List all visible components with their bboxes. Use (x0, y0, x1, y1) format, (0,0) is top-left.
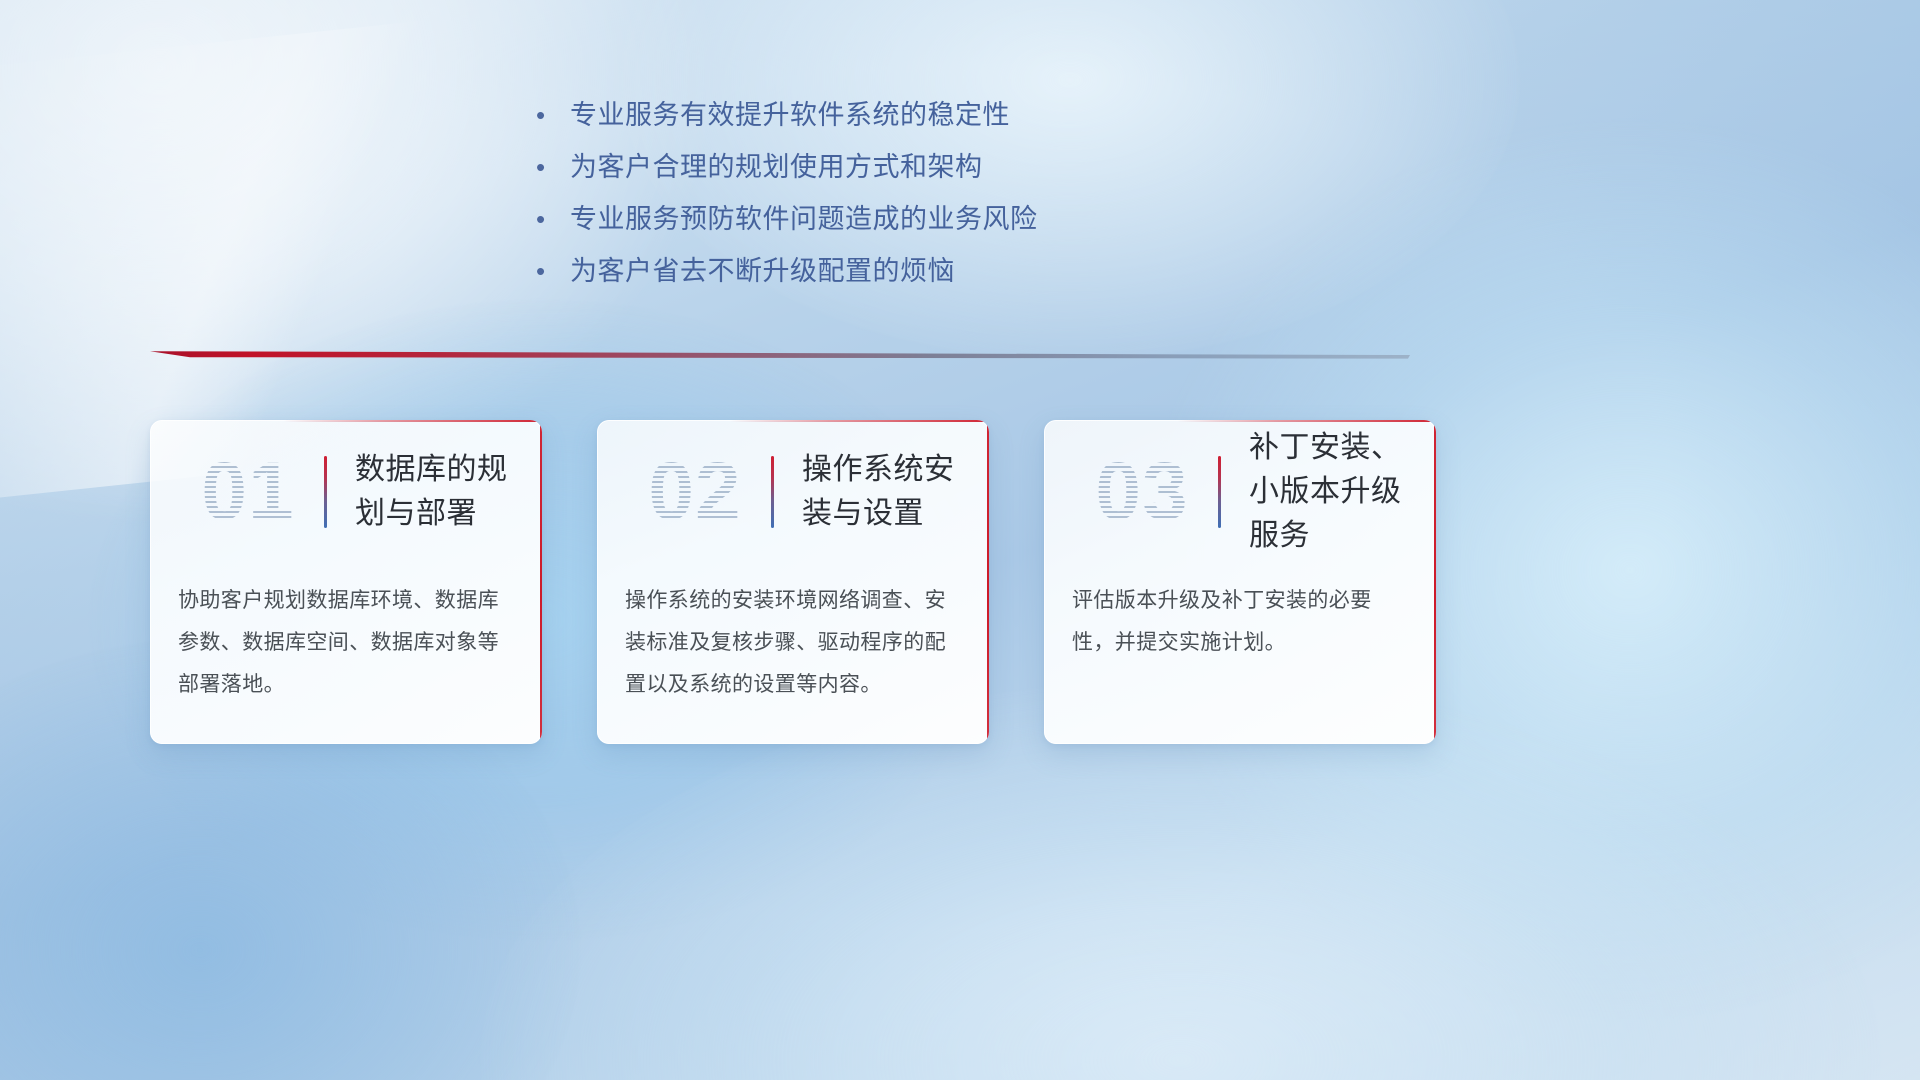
card-number-watermark: 02 (619, 431, 771, 553)
card-description: 操作系统的安装环境网络调查、安装标准及复核步骤、驱动程序的配置以及系统的设置等内… (625, 580, 965, 706)
card-accent-top-edge (1177, 420, 1436, 422)
card-description: 评估版本升级及补丁安装的必要性，并提交实施计划。 (1072, 580, 1412, 664)
bullet-text: 专业服务预防软件问题造成的业务风险 (570, 194, 1038, 244)
list-item: • 专业服务有效提升软件系统的稳定性 (536, 90, 1296, 142)
card-divider-bar (1218, 456, 1221, 528)
bullet-dot-icon: • (536, 246, 570, 296)
card-header: 01 数据库的规划与部署 (150, 428, 542, 556)
service-card-group: 01 数据库的规划与部署 协助客户规划数据库环境、数据库参数、数据库空间、数据库… (0, 420, 1920, 750)
service-card[interactable]: 02 操作系统安装与设置 操作系统的安装环境网络调查、安装标准及复核步骤、驱动程… (597, 420, 989, 744)
card-divider-bar (324, 456, 327, 528)
bullet-text: 为客户合理的规划使用方式和架构 (570, 142, 983, 192)
card-number-watermark: 01 (172, 431, 324, 553)
card-number-text: 02 (648, 446, 741, 537)
bullet-text: 为客户省去不断升级配置的烦恼 (570, 246, 955, 296)
card-divider-bar (771, 456, 774, 528)
service-card[interactable]: 01 数据库的规划与部署 协助客户规划数据库环境、数据库参数、数据库空间、数据库… (150, 420, 542, 744)
card-accent-top-edge (730, 420, 989, 422)
card-number-text: 01 (201, 446, 294, 537)
card-title: 数据库的规划与部署 (355, 448, 528, 536)
bullet-dot-icon: • (536, 194, 570, 244)
list-item: • 为客户省去不断升级配置的烦恼 (536, 246, 1296, 298)
card-number-watermark: 03 (1066, 431, 1218, 553)
bullet-text: 专业服务有效提升软件系统的稳定性 (570, 90, 1010, 140)
card-header: 03 补丁安装、小版本升级服务 (1044, 428, 1436, 556)
bullet-dot-icon: • (536, 90, 570, 140)
card-title: 补丁安装、小版本升级服务 (1249, 426, 1422, 558)
card-description: 协助客户规划数据库环境、数据库参数、数据库空间、数据库对象等部署落地。 (178, 580, 518, 706)
card-accent-top-edge (283, 420, 542, 422)
card-number-text: 03 (1095, 446, 1188, 537)
card-header: 02 操作系统安装与设置 (597, 428, 989, 556)
benefits-bullet-list: • 专业服务有效提升软件系统的稳定性 • 为客户合理的规划使用方式和架构 • 专… (536, 90, 1296, 298)
list-item: • 专业服务预防软件问题造成的业务风险 (536, 194, 1296, 246)
divider-shape-icon (150, 348, 1410, 362)
service-card[interactable]: 03 补丁安装、小版本升级服务 评估版本升级及补丁安装的必要性，并提交实施计划。 (1044, 420, 1436, 744)
bullet-dot-icon: • (536, 142, 570, 192)
section-divider (150, 348, 1410, 362)
card-title: 操作系统安装与设置 (802, 448, 975, 536)
list-item: • 为客户合理的规划使用方式和架构 (536, 142, 1296, 194)
